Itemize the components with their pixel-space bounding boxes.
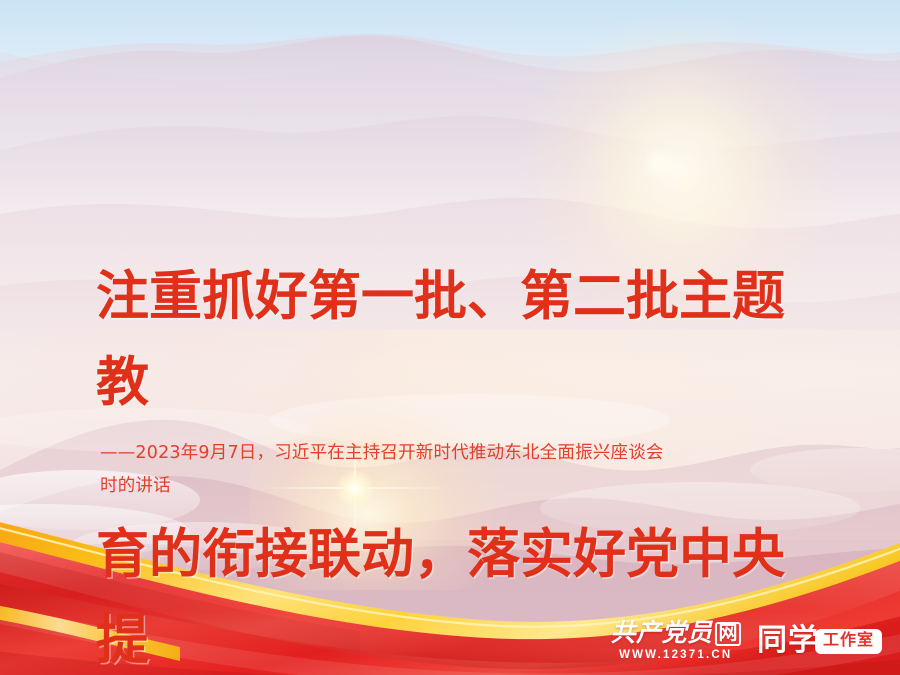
poster-content: 注重抓好第一批、第二批主题教 育的衔接联动，落实好党中央提 出的目标要求和各项重… <box>0 0 900 675</box>
studio-logo[interactable]: 同学 工作室 <box>757 626 882 656</box>
site-logo[interactable]: 共产党员 网 WWW.12371.CN <box>610 621 741 661</box>
attribution-line-2: 时的讲话 <box>100 470 820 503</box>
site-logo-boxed-char: 网 <box>715 622 741 646</box>
studio-logo-name: 同学 <box>757 626 819 656</box>
attribution-line-1: ——2023年9月7日，习近平在主持召开新时代推动东北全面振兴座谈会 <box>100 437 820 470</box>
logo-group: 共产党员 网 WWW.12371.CN 同学 工作室 <box>610 621 882 661</box>
poster-canvas: 共产党员 网 WWW.12371.CN 同学 工作室 注重抓好第一批、第二批主题… <box>0 0 900 675</box>
site-logo-name: 共产党员 <box>610 621 712 646</box>
headline: 注重抓好第一批、第二批主题教 育的衔接联动，落实好党中央提 出的目标要求和各项重… <box>96 168 826 675</box>
site-logo-url: WWW.12371.CN <box>619 649 732 661</box>
attribution: ——2023年9月7日，习近平在主持召开新时代推动东北全面振兴座谈会 时的讲话 <box>100 437 820 503</box>
studio-logo-pill: 工作室 <box>815 629 882 654</box>
headline-line-1: 注重抓好第一批、第二批主题教 <box>96 254 826 426</box>
site-logo-brand: 共产党员 网 <box>610 621 741 646</box>
